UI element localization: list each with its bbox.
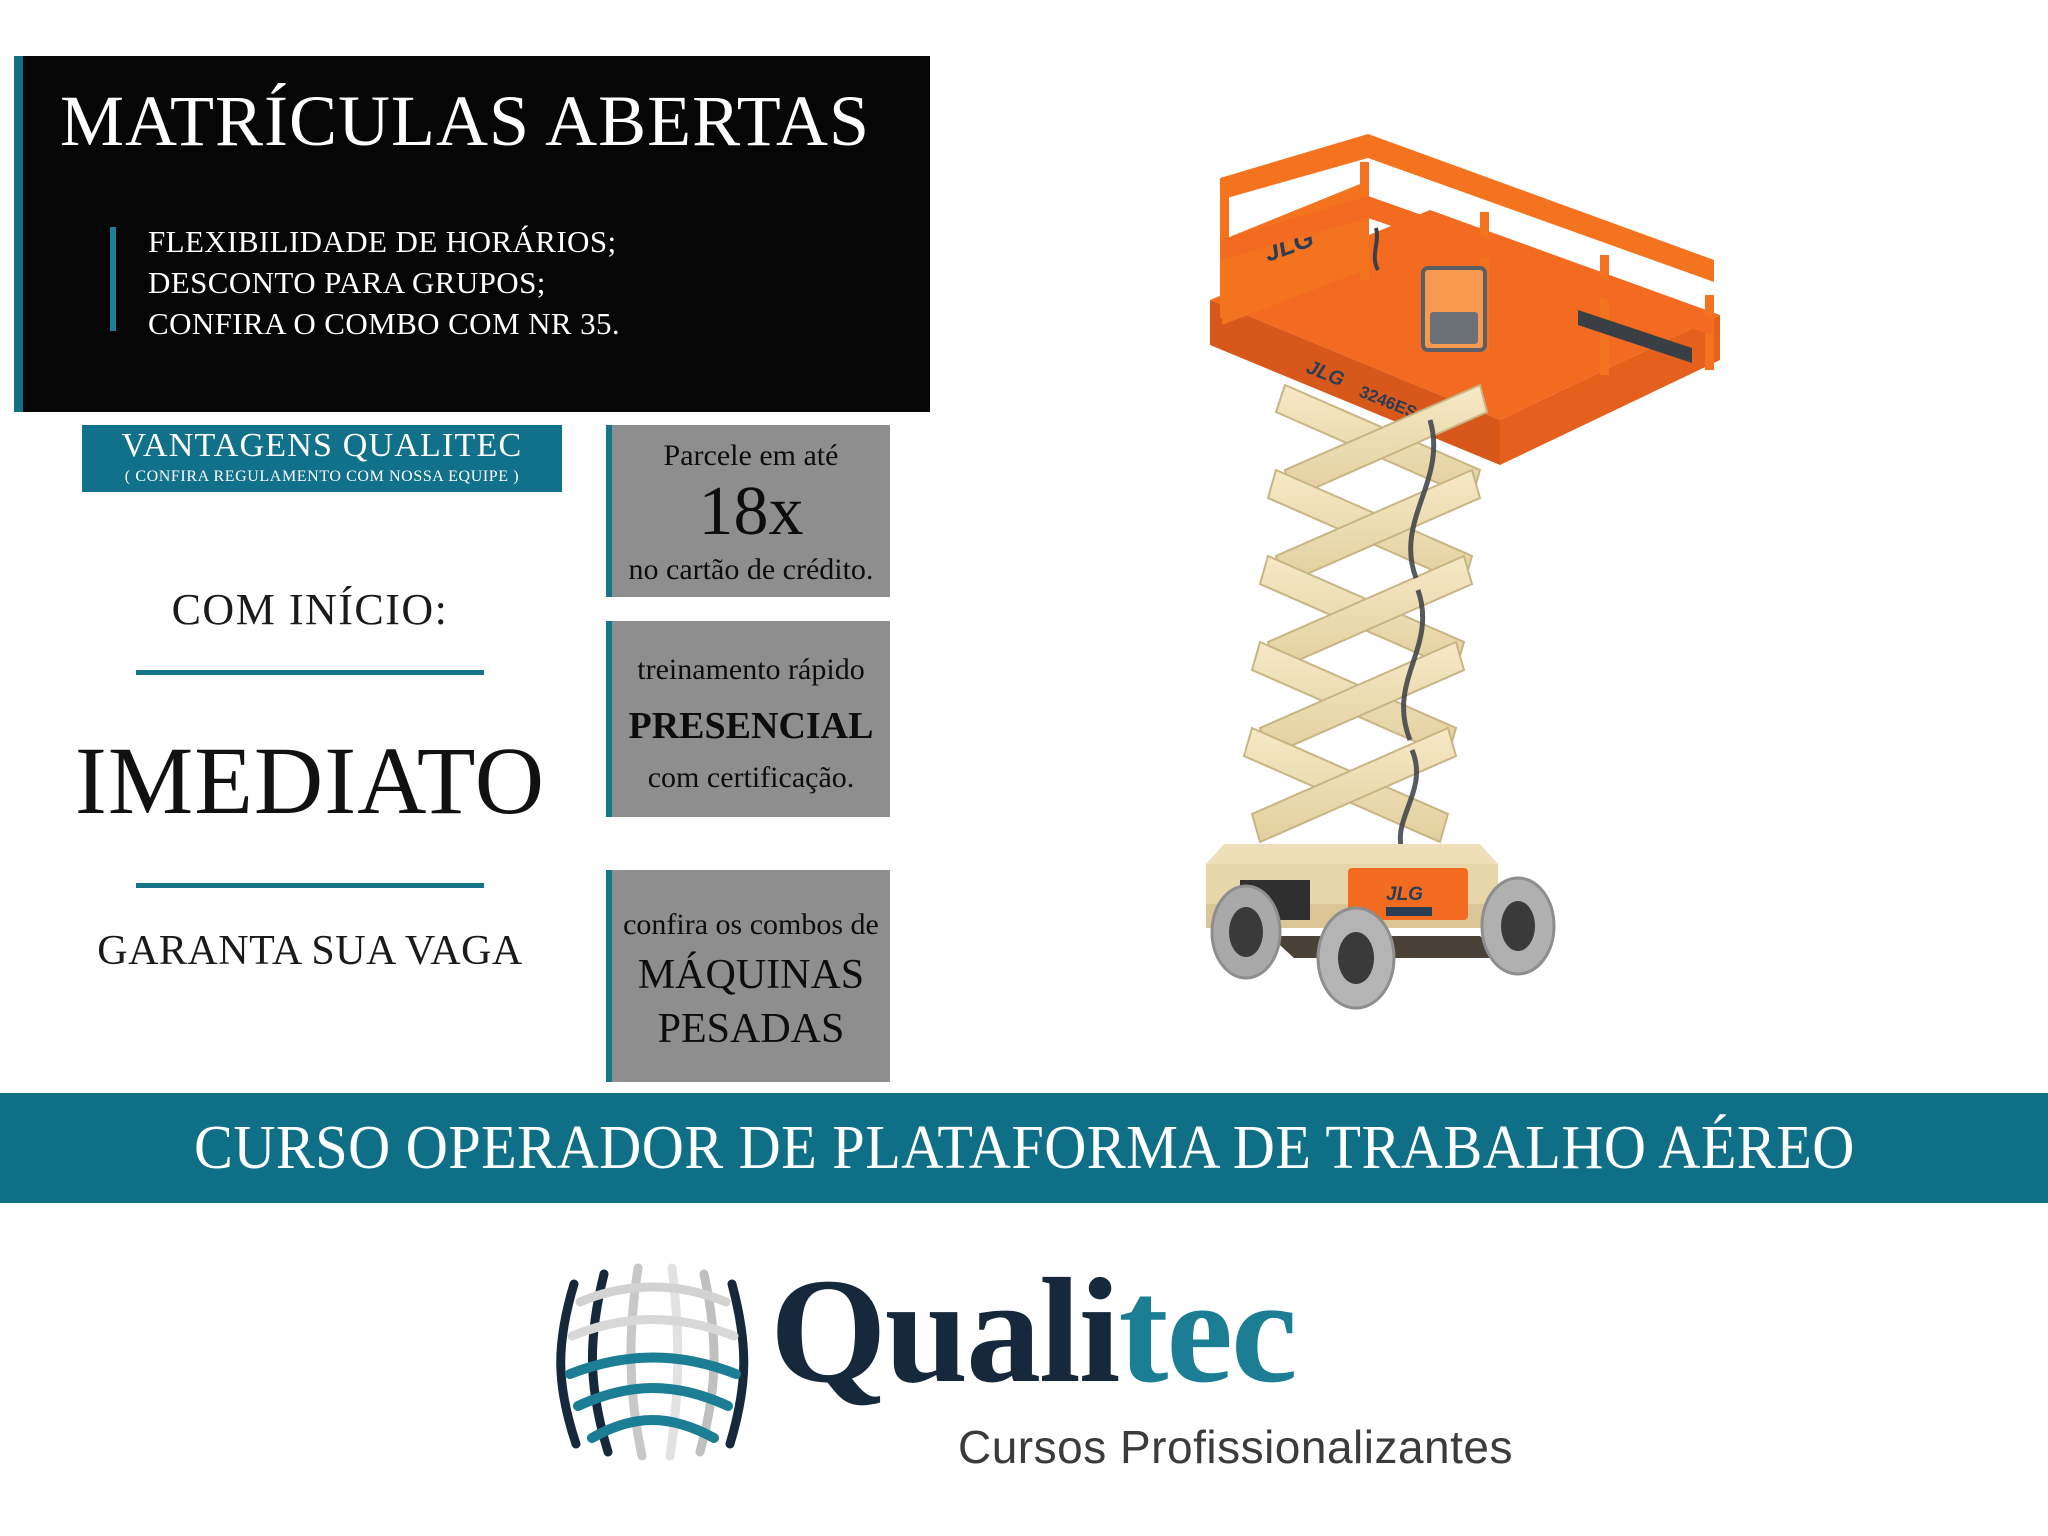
logo-tagline: Cursos Profissionalizantes	[958, 1420, 1513, 1474]
scissor-arms-group	[1244, 385, 1487, 842]
headline-accent-bar	[14, 56, 23, 412]
vantagens-subtitle: ( CONFIRA REGULAMENTO COM NOSSA EQUIPE )	[82, 468, 562, 486]
start-label: COM INÍCIO:	[20, 588, 600, 632]
feature-box-installments: Parcele em até 18x no cartão de crédito.	[612, 425, 890, 597]
brand-logo: Qualitec Cursos Profissionalizantes	[540, 1238, 1520, 1488]
poster-canvas: MATRÍCULAS ABERTAS FLEXIBILIDADE DE HORÁ…	[0, 0, 2048, 1536]
logo-word-quali: Quali	[770, 1248, 1118, 1414]
start-info-column: COM INÍCIO: IMEDIATO GARANTA SUA VAGA	[20, 588, 600, 972]
feature-3-line-2: MÁQUINAS	[612, 952, 890, 999]
divider-bottom	[136, 883, 484, 888]
divider-top	[136, 670, 484, 675]
scissor-lift-image: JLG JLG 3246ES	[1180, 120, 1740, 1050]
headline-box: MATRÍCULAS ABERTAS FLEXIBILIDADE DE HORÁ…	[14, 56, 930, 412]
cta-text: GARANTA SUA VAGA	[20, 930, 600, 972]
page-title: MATRÍCULAS ABERTAS	[60, 82, 900, 161]
headline-bullet-1: FLEXIBILIDADE DE HORÁRIOS;	[148, 221, 620, 262]
svg-text:JLG: JLG	[1386, 884, 1423, 905]
feature-2-line-1: treinamento rápido	[612, 653, 890, 688]
feature-3-line-1: confira os combos de	[612, 908, 890, 943]
course-banner: CURSO OPERADOR DE PLATAFORMA DE TRABALHO…	[0, 1093, 2048, 1203]
logo-wordmark: Qualitec	[770, 1256, 1296, 1406]
headline-bullet-2: DESCONTO PARA GRUPOS;	[148, 262, 620, 303]
feature-2-line-3: com certificação.	[612, 761, 890, 796]
bullet-accent-bar	[110, 227, 116, 331]
feature-1-line-1: Parcele em até	[612, 439, 890, 474]
feature-box-training: treinamento rápido PRESENCIAL com certif…	[612, 621, 890, 817]
headline-bullet-3: CONFIRA O COMBO COM NR 35.	[148, 303, 620, 344]
feature-box-combos: confira os combos de MÁQUINAS PESADAS	[612, 870, 890, 1082]
vantagens-title: VANTAGENS QUALITEC	[82, 427, 562, 464]
feature-1-line-2: 18x	[612, 477, 890, 547]
start-value: IMEDIATO	[20, 733, 600, 829]
course-banner-text: CURSO OPERADOR DE PLATAFORMA DE TRABALHO…	[194, 1113, 1855, 1184]
feature-3-line-3: PESADAS	[612, 1006, 890, 1053]
globe-web-icon	[546, 1254, 756, 1464]
feature-2-line-2: PRESENCIAL	[612, 706, 890, 748]
feature-1-line-3: no cartão de crédito.	[612, 553, 890, 588]
vantagens-banner: VANTAGENS QUALITEC ( CONFIRA REGULAMENTO…	[82, 425, 562, 492]
logo-word-tec: tec	[1118, 1248, 1295, 1414]
